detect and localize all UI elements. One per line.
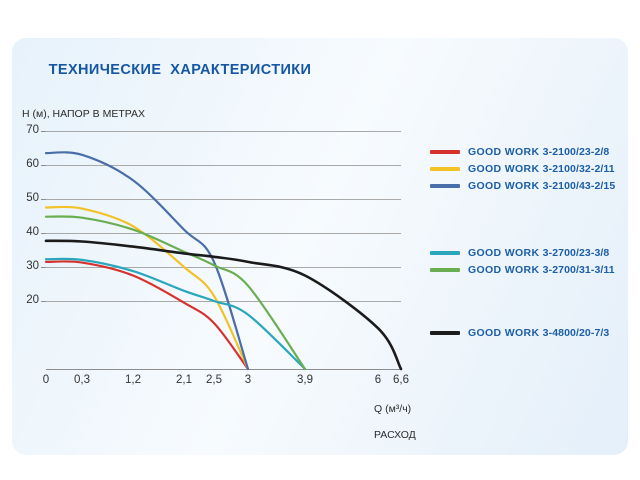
chart-curves <box>46 131 401 370</box>
x-tick-label-0: 0 <box>43 374 49 386</box>
legend-item-gw-3-2700-23-3-8[interactable]: GOOD WORK 3-2700/23-3/8 <box>430 247 609 259</box>
legend-swatch-icon <box>430 331 460 335</box>
x-tick-label-1-2: 1,2 <box>125 374 141 386</box>
x-tick-label-3-9: 3,9 <box>297 374 313 386</box>
y-tick-label-40: 40 <box>13 226 39 238</box>
legend-label: GOOD WORK 3-4800/20-7/3 <box>468 327 609 339</box>
legend-swatch-icon <box>430 150 460 154</box>
legend-item-gw-3-2700-31-3-11[interactable]: GOOD WORK 3-2700/31-3/11 <box>430 264 615 276</box>
x-tick-label-2-1: 2,1 <box>176 374 192 386</box>
legend-swatch-icon <box>430 251 460 255</box>
series-line-good-work-3-4800-20-7-3 <box>46 241 401 369</box>
x-tick-label-6: 6 <box>375 374 381 386</box>
x-tick-label-2-5: 2,5 <box>206 374 222 386</box>
legend-item-gw-3-2100-32-2-11[interactable]: GOOD WORK 3-2100/32-2/11 <box>430 163 615 175</box>
y-tick-mark-30 <box>41 267 46 268</box>
series-line-good-work-3-2700-31-3-11 <box>46 216 305 369</box>
page-title: ТЕХНИЧЕСКИЕ ХАРАКТЕРИСТИКИ <box>0 62 500 78</box>
y-tick-label-60: 60 <box>13 158 39 170</box>
legend-item-gw-3-2100-43-2-15[interactable]: GOOD WORK 3-2100/43-2/15 <box>430 180 615 192</box>
legend-swatch-icon <box>430 184 460 188</box>
x-axis-title: Q (м³/ч) РАСХОД <box>374 390 416 455</box>
legend-label: GOOD WORK 3-2100/23-2/8 <box>468 146 609 158</box>
legend-swatch-icon <box>430 167 460 171</box>
chart-screenshot: ТЕХНИЧЕСКИЕ ХАРАКТЕРИСТИКИ Н (м), НАПОР … <box>0 0 640 480</box>
series-line-good-work-3-2100-43-2-15 <box>46 152 248 369</box>
x-axis-title-line2: РАСХОД <box>374 429 416 442</box>
y-tick-label-30: 30 <box>13 260 39 272</box>
x-axis-title-line1: Q (м³/ч) <box>374 403 416 416</box>
legend-label: GOOD WORK 3-2700/31-3/11 <box>468 264 615 276</box>
y-tick-label-70: 70 <box>13 124 39 136</box>
y-tick-mark-20 <box>41 301 46 302</box>
legend-item-gw-3-4800-20-7-3[interactable]: GOOD WORK 3-4800/20-7/3 <box>430 327 609 339</box>
x-tick-label-3: 3 <box>245 374 251 386</box>
series-line-good-work-3-2100-23-2-8 <box>46 261 248 369</box>
y-axis-title: Н (м), НАПОР В МЕТРАХ <box>22 108 145 120</box>
y-tick-label-50: 50 <box>13 192 39 204</box>
legend-label: GOOD WORK 3-2100/43-2/15 <box>468 180 615 192</box>
x-tick-label-0-3: 0,3 <box>74 374 90 386</box>
legend-label: GOOD WORK 3-2100/32-2/11 <box>468 163 615 175</box>
series-line-good-work-3-2700-23-3-8 <box>46 259 305 369</box>
series-line-good-work-3-2100-32-2-11 <box>46 207 248 369</box>
y-tick-mark-40 <box>41 233 46 234</box>
y-tick-mark-60 <box>41 165 46 166</box>
y-tick-mark-50 <box>41 199 46 200</box>
y-tick-label-20: 20 <box>13 294 39 306</box>
legend-item-gw-3-2100-23-2-8[interactable]: GOOD WORK 3-2100/23-2/8 <box>430 146 609 158</box>
y-tick-mark-70 <box>41 131 46 132</box>
legend-swatch-icon <box>430 268 460 272</box>
legend-label: GOOD WORK 3-2700/23-3/8 <box>468 247 609 259</box>
x-tick-label-6-6: 6,6 <box>393 374 409 386</box>
